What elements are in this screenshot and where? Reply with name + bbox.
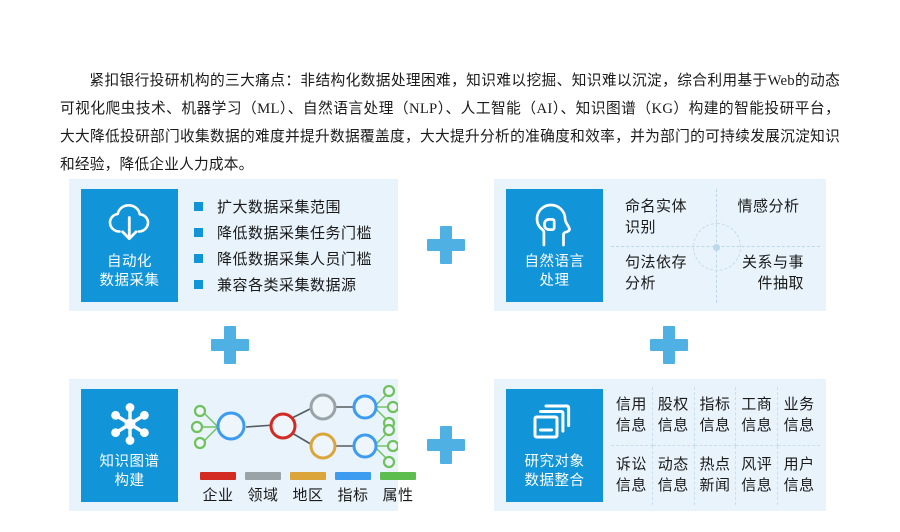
grid-cell-line2: 信息 bbox=[784, 476, 815, 497]
grid-cell: 指标信息 bbox=[695, 387, 737, 446]
quadrant-cell-sentiment: 情感分析 bbox=[716, 187, 823, 246]
list-item: 降低数据采集人员门槛 bbox=[194, 245, 372, 271]
card-body: 扩大数据采集范围 降低数据采集任务门槛 降低数据采集人员门槛 兼容各类采集数据源 bbox=[178, 179, 398, 311]
quadrant-label: 关系与事件抽取 bbox=[728, 253, 804, 295]
grid-cell-line1: 用户 bbox=[784, 455, 815, 476]
card-research-object-data-integration[interactable]: 研究对象 数据整合 信用信息 股权信息 指标信息 工商信息 业务信息 诉讼信息 … bbox=[494, 379, 826, 511]
card-title-line2: 构建 bbox=[115, 472, 145, 491]
legend-item: 地区 bbox=[290, 472, 326, 505]
grid-cell-line1: 业务 bbox=[784, 395, 815, 416]
legend-label: 地区 bbox=[290, 484, 326, 505]
grid-cell: 工商信息 bbox=[736, 387, 778, 446]
card-automated-data-collection[interactable]: 自动化 数据采集 扩大数据采集范围 降低数据采集任务门槛 降低数据采集人员门槛 … bbox=[69, 179, 398, 311]
grid-cell-line1: 热点 bbox=[699, 455, 730, 476]
grid-cell-line1: 股权 bbox=[658, 395, 689, 416]
bullet-square-icon bbox=[194, 280, 203, 289]
card-knowledge-graph-construction[interactable]: 知识图谱 构建 bbox=[69, 379, 398, 511]
list-item-label: 兼容各类采集数据源 bbox=[217, 274, 357, 295]
card-title-line1: 自然语言 bbox=[525, 253, 585, 272]
legend-label: 领域 bbox=[245, 484, 281, 505]
grid-cell-line1: 信用 bbox=[616, 395, 647, 416]
grid-cell-line2: 新闻 bbox=[699, 476, 730, 497]
list-item: 兼容各类采集数据源 bbox=[194, 271, 372, 297]
grid-cell-line1: 风评 bbox=[741, 455, 772, 476]
plus-connector-middle-right bbox=[650, 326, 688, 364]
card-title-line1: 自动化 bbox=[107, 253, 152, 272]
nlp-quadrant-diagram: 命名实体识别 情感分析 句法依存分析 关系与事件抽取 bbox=[609, 187, 822, 305]
quadrant-label: 情感分析 bbox=[738, 197, 800, 218]
grid-cell-line1: 动态 bbox=[658, 455, 689, 476]
card-title-line1: 知识图谱 bbox=[100, 453, 160, 472]
list-item-label: 降低数据采集人员门槛 bbox=[217, 248, 372, 269]
bullet-square-icon bbox=[194, 202, 203, 211]
feature-list: 扩大数据采集范围 降低数据采集任务门槛 降低数据采集人员门槛 兼容各类采集数据源 bbox=[194, 193, 372, 297]
grid-cell-line2: 信息 bbox=[658, 476, 689, 497]
grid-cell-line2: 信息 bbox=[741, 416, 772, 437]
quadrant-label: 句法依存分析 bbox=[625, 253, 701, 295]
bullet-square-icon bbox=[194, 228, 203, 237]
grid-cell-line2: 信息 bbox=[616, 476, 647, 497]
legend-label: 企业 bbox=[200, 484, 236, 505]
legend-item: 领域 bbox=[245, 472, 281, 505]
legend-color-swatch bbox=[245, 472, 281, 480]
card-icon-box: 知识图谱 构建 bbox=[81, 389, 178, 502]
legend-color-swatch bbox=[290, 472, 326, 480]
card-body: 命名实体识别 情感分析 句法依存分析 关系与事件抽取 bbox=[603, 179, 826, 311]
plus-connector-bottom bbox=[427, 426, 465, 464]
legend-label: 指标 bbox=[335, 484, 371, 505]
bullet-square-icon bbox=[194, 254, 203, 263]
grid-cell: 业务信息 bbox=[778, 387, 820, 446]
grid-cell-line1: 诉讼 bbox=[616, 455, 647, 476]
network-nodes-icon bbox=[106, 399, 154, 449]
quadrant-label: 命名实体识别 bbox=[625, 197, 701, 239]
legend-color-swatch bbox=[380, 472, 416, 480]
head-profile-icon bbox=[533, 199, 577, 249]
list-item: 降低数据采集任务门槛 bbox=[194, 219, 372, 245]
quadrant-cell-ner: 命名实体识别 bbox=[609, 187, 716, 246]
intro-paragraph: 紧扣银行投研机构的三大痛点：非结构化数据处理困难，知识难以挖掘、知识难以沉淀，综… bbox=[60, 67, 840, 179]
slide-canvas: 紧扣银行投研机构的三大痛点：非结构化数据处理困难，知识难以挖掘、知识难以沉淀，综… bbox=[0, 0, 900, 532]
grid-cell-line1: 工商 bbox=[741, 395, 772, 416]
card-title-line1: 研究对象 bbox=[525, 453, 585, 472]
card-icon-box: 自然语言 处理 bbox=[506, 189, 603, 302]
quadrant-cell-syntax: 句法依存分析 bbox=[609, 246, 716, 305]
grid-cell-line1: 指标 bbox=[699, 395, 730, 416]
grid-cell-line2: 信息 bbox=[699, 416, 730, 437]
card-icon-box: 研究对象 数据整合 bbox=[506, 389, 603, 502]
card-title-line2: 数据采集 bbox=[100, 272, 160, 291]
legend-color-swatch bbox=[200, 472, 236, 480]
card-body: 企业 领域 地区 指标 bbox=[178, 379, 398, 511]
graph-legend: 企业 领域 地区 指标 bbox=[200, 472, 416, 505]
legend-item: 企业 bbox=[200, 472, 236, 505]
data-category-grid: 信用信息 股权信息 指标信息 工商信息 业务信息 诉讼信息 动态信息 热点新闻 … bbox=[611, 387, 820, 505]
card-title-line2: 处理 bbox=[540, 272, 570, 291]
plus-connector-top bbox=[427, 226, 465, 264]
legend-item: 属性 bbox=[380, 472, 416, 505]
grid-cell: 风评信息 bbox=[736, 446, 778, 505]
grid-cell: 诉讼信息 bbox=[611, 446, 653, 505]
quadrant-cell-relation-event: 关系与事件抽取 bbox=[716, 246, 823, 305]
card-icon-box: 自动化 数据采集 bbox=[81, 189, 178, 302]
stacked-documents-icon bbox=[532, 399, 578, 449]
grid-cell-line2: 信息 bbox=[616, 416, 647, 437]
legend-label: 属性 bbox=[380, 484, 416, 505]
grid-cell-line2: 信息 bbox=[741, 476, 772, 497]
cloud-download-icon bbox=[106, 199, 154, 249]
grid-cell-line2: 信息 bbox=[658, 416, 689, 437]
card-body: 信用信息 股权信息 指标信息 工商信息 业务信息 诉讼信息 动态信息 热点新闻 … bbox=[603, 379, 826, 511]
grid-cell: 动态信息 bbox=[653, 446, 695, 505]
legend-color-swatch bbox=[335, 472, 371, 480]
grid-cell: 热点新闻 bbox=[695, 446, 737, 505]
card-title-line2: 数据整合 bbox=[525, 472, 585, 491]
list-item: 扩大数据采集范围 bbox=[194, 193, 372, 219]
card-natural-language-processing[interactable]: 自然语言 处理 命名实体识别 情感分析 句法依存分析 关系与事件抽取 bbox=[494, 179, 826, 311]
grid-cell: 信用信息 bbox=[611, 387, 653, 446]
grid-cell-line2: 信息 bbox=[784, 416, 815, 437]
plus-connector-middle-left bbox=[211, 326, 249, 364]
list-item-label: 扩大数据采集范围 bbox=[217, 196, 341, 217]
grid-cell: 用户信息 bbox=[778, 446, 820, 505]
list-item-label: 降低数据采集任务门槛 bbox=[217, 222, 372, 243]
legend-item: 指标 bbox=[335, 472, 371, 505]
knowledge-graph-diagram: 企业 领域 地区 指标 bbox=[186, 383, 396, 509]
grid-cell: 股权信息 bbox=[653, 387, 695, 446]
